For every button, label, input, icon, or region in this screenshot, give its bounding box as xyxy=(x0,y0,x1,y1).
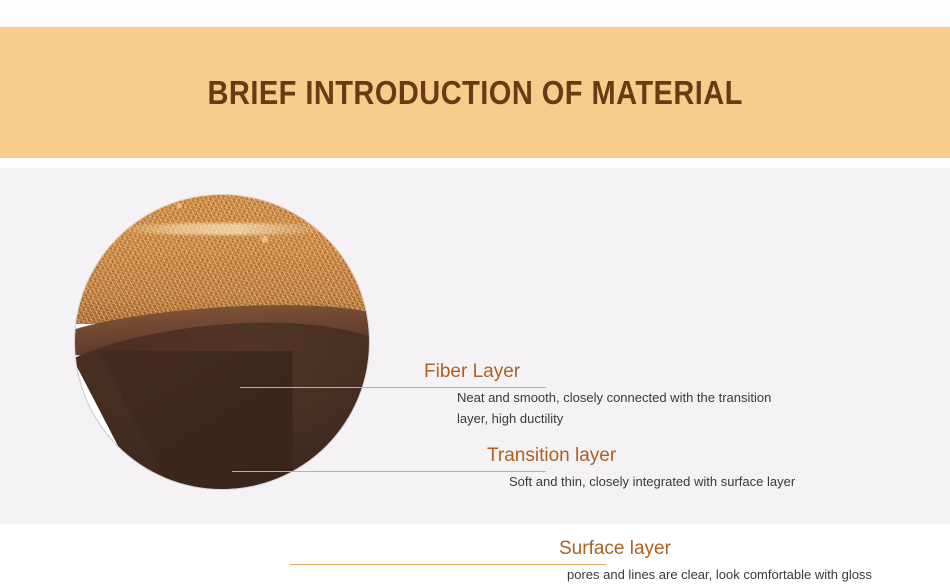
callout-fiber-heading: Fiber Layer xyxy=(424,361,827,383)
page-title: BRIEF INTRODUCTION OF MATERIAL xyxy=(207,74,742,112)
callout-surface-heading: Surface layer xyxy=(559,538,937,560)
callout-fiber-description: Neat and smooth, closely connected with … xyxy=(457,387,827,429)
fiber-highlight-streak xyxy=(117,223,334,236)
callout-transition-description: Soft and thin, closely integrated with s… xyxy=(509,471,869,492)
callout-transition-heading: Transition layer xyxy=(487,445,869,467)
page-root: BRIEF INTRODUCTION OF MATERIAL Fiber Lay… xyxy=(0,0,950,524)
header-banner: BRIEF INTRODUCTION OF MATERIAL xyxy=(0,27,950,158)
material-cross-section-photo xyxy=(75,195,369,489)
fiber-layer-texture xyxy=(75,195,369,324)
callout-surface: Surface layer pores and lines are clear,… xyxy=(559,538,937,585)
callout-transition: Transition layer Soft and thin, closely … xyxy=(487,445,869,492)
content-area: Fiber Layer Neat and smooth, closely con… xyxy=(0,168,950,524)
callout-fiber: Fiber Layer Neat and smooth, closely con… xyxy=(424,361,827,429)
callout-surface-description: pores and lines are clear, look comforta… xyxy=(567,564,937,585)
